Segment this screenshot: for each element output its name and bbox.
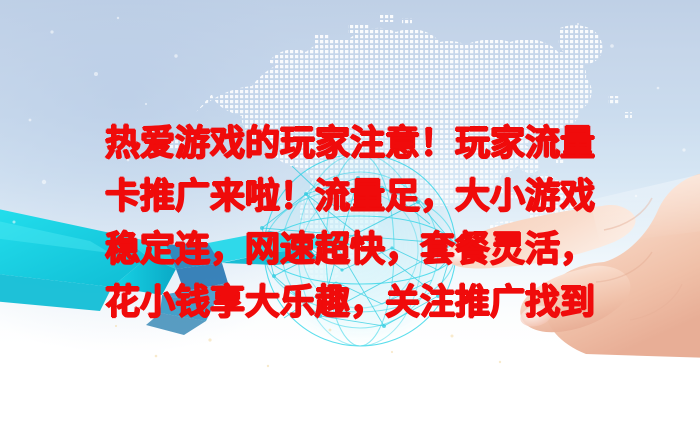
headline-line-3: 稳定连，网速超快，套餐灵活， (0, 224, 700, 277)
promo-banner: 热爱游戏的玩家注意！玩家流量 卡推广来啦！流量足，大小游戏 稳定连，网速超快，套… (0, 0, 700, 442)
headline-line-1: 热爱游戏的玩家注意！玩家流量 (0, 118, 700, 171)
headline-text: 热爱游戏的玩家注意！玩家流量 卡推广来啦！流量足，大小游戏 稳定连，网速超快，套… (0, 118, 700, 330)
headline-line-2: 卡推广来啦！流量足，大小游戏 (0, 171, 700, 224)
headline-line-4: 花小钱享大乐趣，关注推广找到 (0, 277, 700, 330)
